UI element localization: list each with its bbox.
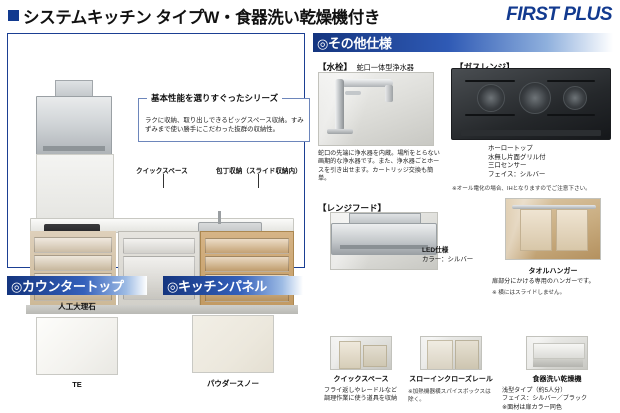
slow-close-caption: スローインクローズレール: [408, 374, 494, 384]
page-header: システムキッチン タイプW・食器洗い乾燥機付き FIRST PLUS: [0, 0, 620, 32]
gas-range-control-panel[interactable]: [461, 130, 601, 136]
grate-bar: [547, 80, 595, 82]
counter-top-swatch[interactable]: [36, 317, 118, 375]
faucet-base-shape: [327, 129, 353, 134]
dishwasher-body: 浅型タイプ（約5人分） フェイス：シルバー／ブラック ※面材は扉カラー同色: [502, 387, 612, 412]
callout-title: 基本性能を選りすぐったシリーズ: [147, 92, 282, 104]
quick-space-tray-shape: [363, 345, 387, 367]
quick-space-door-shape: [339, 341, 361, 369]
kitchen-panel-heading: ◎キッチンパネル: [163, 276, 303, 295]
kitchen-panel-section: ◎キッチンパネル パウダースノー: [163, 276, 303, 389]
faucet-photo: [318, 72, 434, 146]
callout-body: ラクに収納、取り出しできるビッグスペース収納。すみずみまで使い勝手にこだわった抜…: [145, 116, 304, 134]
gas-range-specs: ホーロートップ 水無し片面グリル付 三口センサー フェイス：シルバー: [488, 145, 546, 179]
counter-top-heading: ◎カウンタートップ: [7, 276, 147, 295]
gas-spec-2: 水無し片面グリル付: [488, 154, 546, 163]
quick-space-photo: [330, 336, 392, 370]
drawer: [205, 256, 289, 272]
towel-hanger-photo: [505, 198, 601, 260]
leader-line: [258, 174, 259, 188]
page-title: システムキッチン タイプW・食器洗い乾燥機付き: [23, 4, 380, 28]
faucet-body-shape: [335, 79, 344, 131]
hood-filter-slit: [340, 245, 428, 249]
kitchen-panel-swatch[interactable]: [192, 315, 274, 373]
gas-range-photo: [451, 68, 611, 140]
header-square-bullet-icon: [8, 10, 19, 21]
range-hood-specs: LED仕様 カラー：シルバー: [422, 246, 473, 264]
towel-shape: [520, 209, 552, 251]
detail-item-quick-space: クイックスペース フライ返しやレードルなど調理作業に使う道具を収納: [324, 336, 398, 404]
quick-space-caption: クイックスペース: [324, 374, 398, 384]
range-hood-spec-color: カラー：シルバー: [422, 255, 473, 264]
slow-close-drawer-shape: [427, 340, 453, 370]
dishwasher-photo: [526, 336, 588, 370]
leader-line: [163, 174, 164, 188]
towel-hanger-body: 扉部分にかける専用のハンガーです。: [492, 278, 616, 286]
slow-close-photo: [420, 336, 482, 370]
slow-close-rail-shape: [455, 340, 479, 370]
faucet-tag: 【水栓】: [318, 62, 352, 72]
towel-hanger-note: ※ 横にはスライドしません。: [492, 288, 616, 296]
feature-callout-box: 基本性能を選りすぐったシリーズ ラクに収納、取り出しできるビッグスペース収納。す…: [138, 98, 310, 142]
faucet-description: 蛇口の先端に浄水器を内蔵。場所をとらない画期的な浄水器です。また、浄水器ごとホー…: [318, 150, 444, 184]
detail-item-slow-close: スローインクローズレール ※加熱機器横スパイスボックスは除く。: [408, 336, 494, 403]
range-hood-spec-led: LED仕様: [422, 246, 473, 255]
gas-spec-1: ホーロートップ: [488, 145, 546, 154]
gas-spec-4: フェイス：シルバー: [488, 171, 546, 180]
label-quick-space: クイックスペース: [136, 165, 188, 175]
burner-right-icon: [563, 86, 587, 110]
detail-item-dishwasher: 食器洗い乾燥機 浅型タイプ（約5人分） フェイス：シルバー／ブラック ※面材は扉…: [502, 336, 612, 412]
dishwasher-caption: 食器洗い乾燥機: [502, 374, 612, 384]
towel-hanger-caption: タオルハンガー: [505, 266, 601, 276]
burner-left-icon: [477, 84, 505, 112]
quick-space-body: フライ返しやレードルなど調理作業に使う道具を収納: [324, 387, 398, 404]
slow-close-body: ※加熱機器横スパイスボックスは除く。: [408, 387, 494, 403]
counter-top-material: 人工大理石: [7, 301, 147, 312]
gas-spec-3: 三口センサー: [488, 162, 546, 171]
faucet-spout-shape: [385, 85, 393, 102]
faucet-name: 蛇口一体型浄水器: [356, 63, 414, 72]
towel-shape: [556, 209, 588, 251]
brand-logo: FIRST PLUS: [506, 4, 612, 26]
dishwasher-handle-shape: [533, 359, 583, 367]
grate-bar: [547, 114, 595, 116]
range-hood-shape: [36, 96, 112, 156]
drawer: [123, 238, 195, 254]
counter-top-swatch-label: TE: [7, 380, 147, 389]
kitchen-panel-spacer: [163, 301, 303, 310]
grate-bar: [465, 80, 515, 82]
drawer: [34, 255, 112, 271]
kitchen-panel-wall-shape: [36, 154, 114, 220]
faucet-shape: [218, 211, 221, 224]
other-spec-heading: ◎その他仕様: [313, 33, 613, 52]
faucet-lever-shape: [345, 91, 361, 95]
drawer: [34, 237, 112, 253]
grate-bar: [465, 114, 515, 116]
drawer: [205, 238, 289, 254]
kitchen-illustration-panel: 基本性能を選りすぐったシリーズ ラクに収納、取り出しできるビッグスペース収納。す…: [7, 33, 305, 268]
burner-center-icon: [519, 82, 551, 114]
kitchen-panel-swatch-label: パウダースノー: [163, 378, 303, 389]
page-root: システムキッチン タイプW・食器洗い乾燥機付き FIRST PLUS: [0, 0, 620, 413]
gas-range-note: ※オール電化の場合、IHとなりますのでご注意下さい。: [452, 184, 617, 192]
counter-top-section: ◎カウンタートップ 人工大理石 TE: [7, 276, 147, 389]
dishwasher-front-shape: [533, 343, 585, 359]
